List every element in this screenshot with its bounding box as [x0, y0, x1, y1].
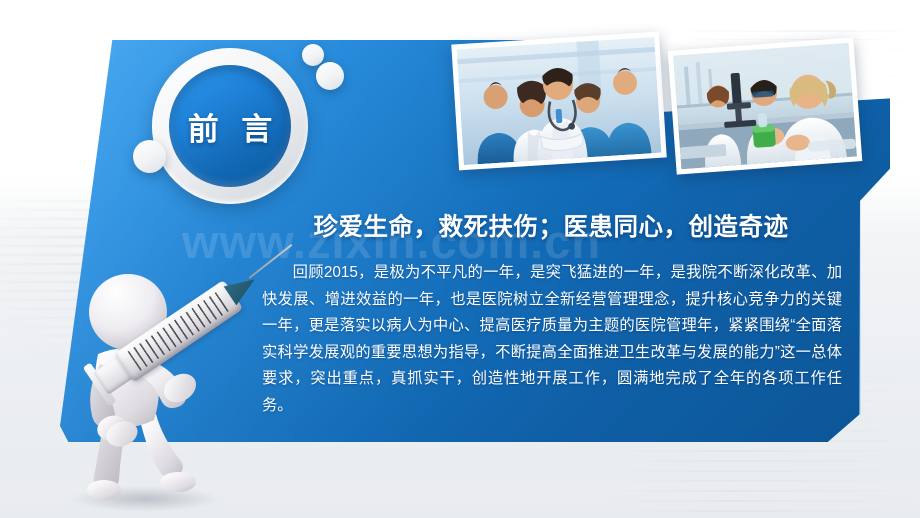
decorative-bubble-left: [133, 140, 166, 173]
slide-root: www.zixin.com.cn 珍爱生命，救死扶伤；医患同心，创造奇迹 回顾2…: [0, 0, 920, 518]
photo-medical-team: [451, 32, 667, 171]
decorative-bubble-small: [302, 44, 324, 66]
laboratory-illustration: [673, 43, 857, 170]
syringe-needle: [249, 244, 293, 279]
slide-paragraph: 回顾2015，是极为不平凡的一年，是突飞猛进的一年，是我院不断深化改革、加快发展…: [262, 260, 842, 420]
badge-label: 前 言: [181, 104, 280, 149]
section-badge: 前 言: [152, 48, 308, 204]
photo-laboratory: [668, 37, 863, 174]
medical-team-illustration: [457, 37, 662, 165]
syringe-measurement-ticks: [128, 291, 230, 370]
badge-inner-circle: 前 言: [169, 65, 291, 187]
photo-laboratory-image: [673, 43, 857, 170]
photo-medical-team-image: [457, 37, 662, 165]
decorative-bubble-medium: [316, 62, 344, 90]
mascot-figure-with-syringe: [52, 268, 262, 518]
slide-headline: 珍爱生命，救死扶伤；医患同心，创造奇迹: [268, 208, 834, 243]
